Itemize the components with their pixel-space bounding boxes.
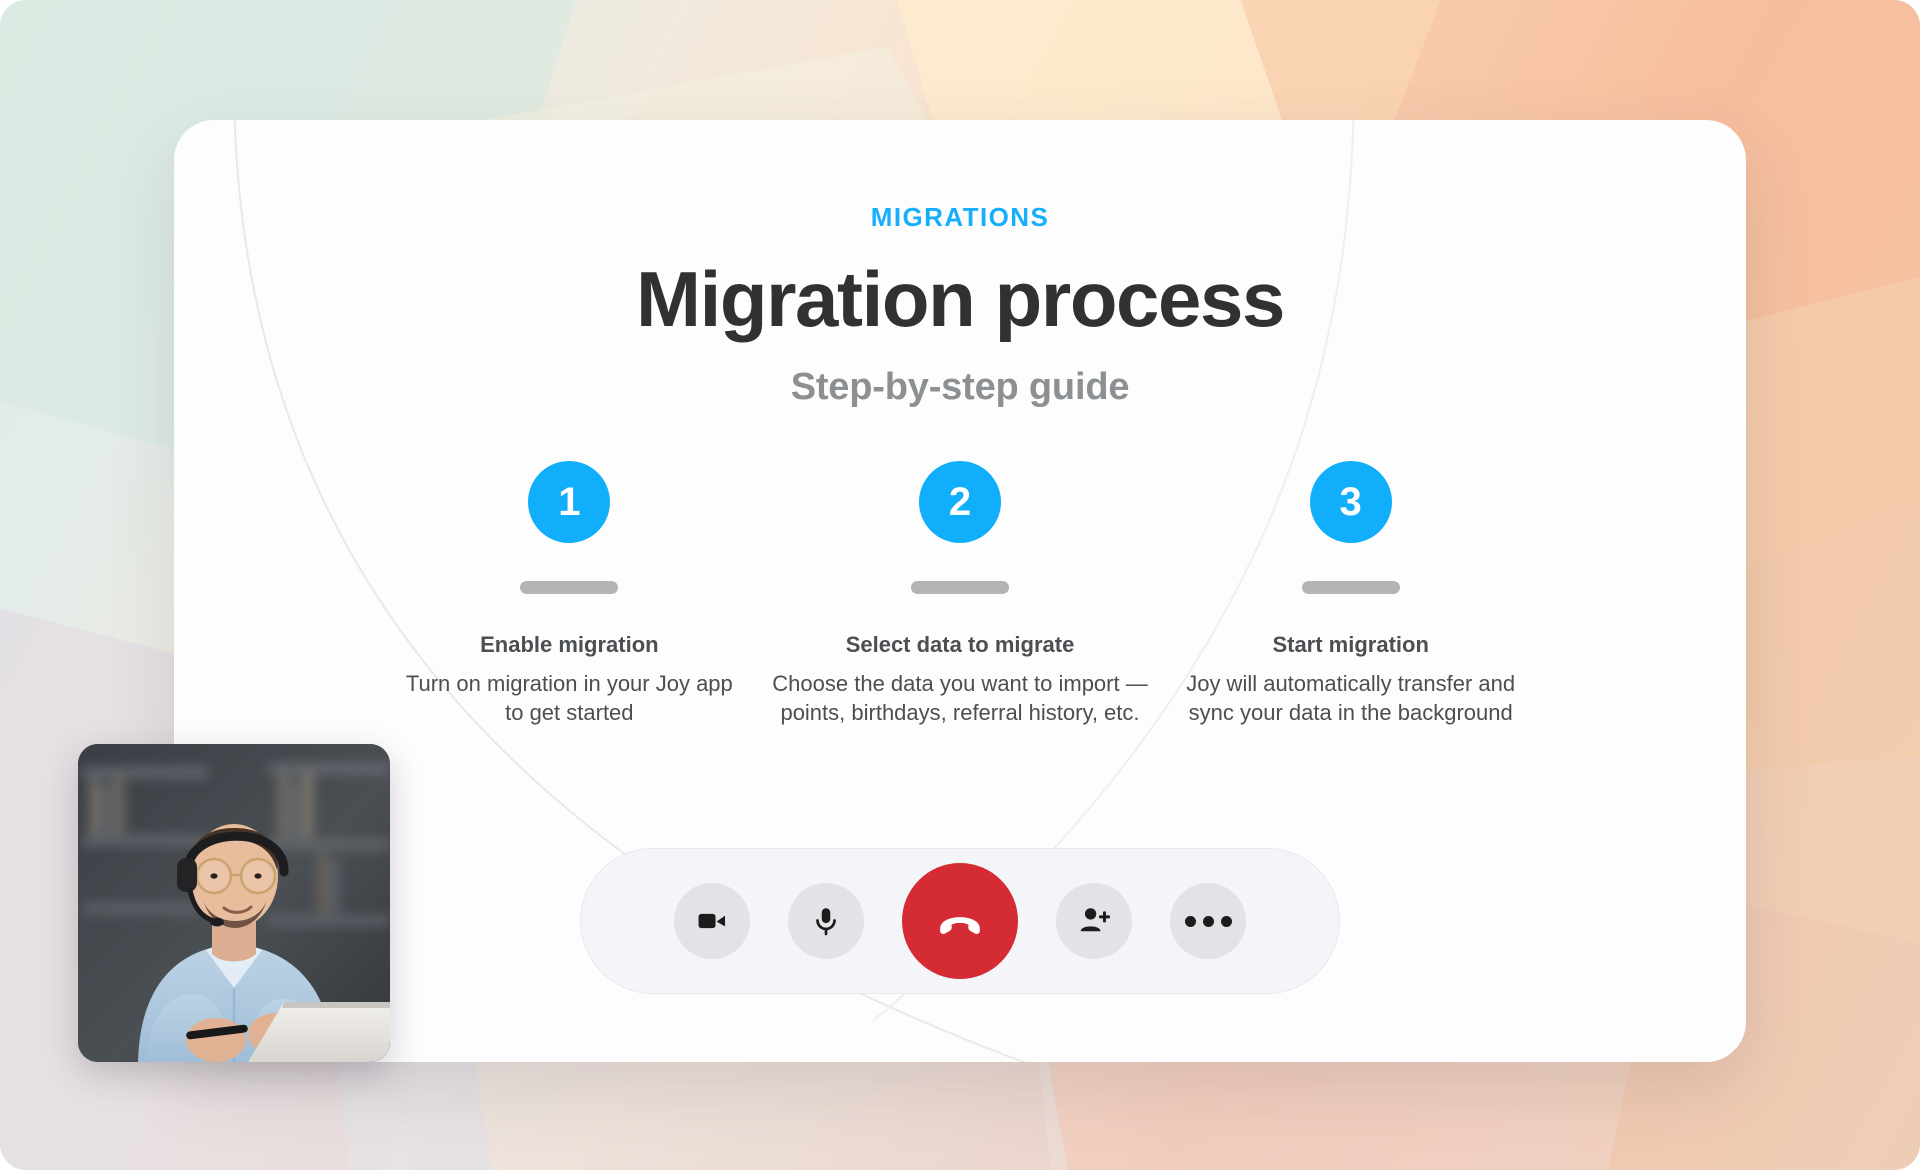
step-description: Turn on migration in your Joy app to get… — [399, 669, 739, 728]
step-item: 1 Enable migration Turn on migration in … — [374, 461, 765, 728]
microphone-button[interactable] — [788, 883, 864, 959]
more-options-icon — [1185, 916, 1232, 927]
step-heading: Start migration — [1272, 632, 1428, 658]
step-number-badge: 2 — [919, 461, 1001, 543]
end-call-icon — [933, 894, 987, 948]
step-item: 3 Start migration Joy will automatically… — [1155, 461, 1546, 728]
microphone-icon — [809, 904, 843, 938]
presentation-slide-card: MIGRATIONS Migration process Step-by-ste… — [174, 120, 1746, 1062]
step-heading: Enable migration — [480, 632, 658, 658]
step-number-badge: 3 — [1310, 461, 1392, 543]
steps-row: 1 Enable migration Turn on migration in … — [174, 461, 1746, 728]
step-divider-bar — [520, 581, 618, 594]
more-options-button[interactable] — [1170, 883, 1246, 959]
end-call-button[interactable] — [902, 863, 1018, 979]
slide-viewer: MIGRATIONS Migration process Step-by-ste… — [0, 0, 1920, 1170]
step-divider-bar — [1302, 581, 1400, 594]
step-heading: Select data to migrate — [846, 632, 1075, 658]
camera-button[interactable] — [674, 883, 750, 959]
call-control-bar — [580, 848, 1340, 994]
page-title: Migration process — [174, 259, 1746, 340]
step-divider-bar — [911, 581, 1009, 594]
step-description: Choose the data you want to import — poi… — [769, 669, 1151, 728]
step-description: Joy will automatically transfer and sync… — [1171, 669, 1531, 728]
step-number-badge: 1 — [528, 461, 610, 543]
step-item: 2 Select data to migrate Choose the data… — [765, 461, 1156, 728]
slide-subtitle: Step-by-step guide — [174, 366, 1746, 409]
selfview-video-tile[interactable] — [78, 744, 390, 1062]
camera-icon — [695, 904, 729, 938]
add-person-icon — [1077, 904, 1111, 938]
add-person-button[interactable] — [1056, 883, 1132, 959]
selfview-video-frame — [78, 744, 390, 1062]
slide-eyebrow: MIGRATIONS — [174, 202, 1746, 233]
